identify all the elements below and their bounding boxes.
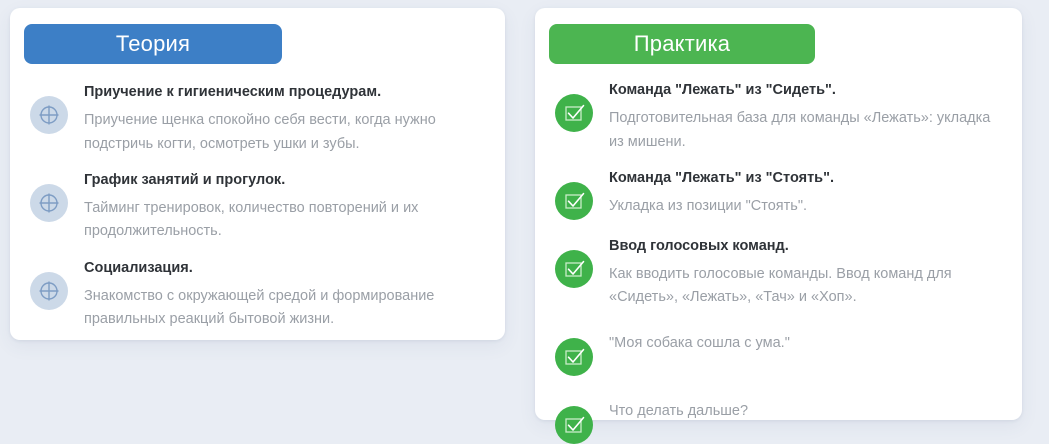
list-item[interactable]: Социализация. Знакомство с окружающей ср… [10,252,505,334]
list-item-text: Команда "Лежать" из "Стоять". Укладка из… [597,162,1006,221]
list-item-text: Социализация. Знакомство с окружающей ср… [72,252,489,334]
practice-card-header: Практика [549,24,815,64]
list-item-title: Социализация. [84,258,489,279]
list-item[interactable]: Команда "Лежать" из "Сидеть". Подготовит… [535,74,1022,156]
list-item-text: Что делать дальше? [597,386,1006,433]
list-item-description: Знакомство с окружающей средой и формиро… [84,285,489,332]
list-item-title: Приучение к гигиеническим процедурам. [84,82,489,103]
list-item-text: Приучение к гигиеническим процедурам. Пр… [72,76,489,158]
list-item-description: "Моя собака сошла с ума." [609,332,1006,355]
list-item-text: Ввод голосовых команд. Как вводить голос… [597,230,1006,312]
list-item-description: Как вводить голосовые команды. Ввод кома… [609,263,1006,310]
list-item-description: Подготовительная база для команды «Лежат… [609,107,1006,154]
practice-card: Практика Команда "Лежать" из "Сидеть". П… [535,8,1022,420]
list-item-title: График занятий и прогулок. [84,170,489,191]
page-root: Теория Приучение к гигиеническим процеду… [0,0,1049,444]
check-square-icon [551,246,597,292]
check-square-icon [551,334,597,380]
list-item[interactable]: Команда "Лежать" из "Стоять". Укладка из… [535,162,1022,224]
list-item[interactable]: Что делать дальше? [535,386,1022,444]
crosshair-icon [26,92,72,138]
crosshair-icon [26,180,72,226]
list-item-description: Приучение щенка спокойно себя вести, ког… [84,109,489,156]
practice-card-header-label: Практика [634,31,730,57]
list-item[interactable]: Ввод голосовых команд. Как вводить голос… [535,230,1022,312]
list-item[interactable]: Приучение к гигиеническим процедурам. Пр… [10,76,505,158]
list-item-text: Команда "Лежать" из "Сидеть". Подготовит… [597,74,1006,156]
crosshair-icon [26,268,72,314]
list-item[interactable]: "Моя собака сошла с ума." [535,318,1022,380]
theory-card-header-label: Теория [116,31,190,57]
list-item-description: Тайминг тренировок, количество повторени… [84,197,489,244]
check-square-icon [551,402,597,444]
list-item[interactable]: График занятий и прогулок. Тайминг трени… [10,164,505,246]
list-item-description: Что делать дальше? [609,400,1006,423]
list-item-title: Команда "Лежать" из "Сидеть". [609,80,1006,101]
list-item-title: Ввод голосовых команд. [609,236,1006,257]
list-item-title: Команда "Лежать" из "Стоять". [609,168,1006,189]
practice-item-list: Команда "Лежать" из "Сидеть". Подготовит… [535,74,1022,444]
theory-item-list: Приучение к гигиеническим процедурам. Пр… [10,76,505,340]
list-item-text: "Моя собака сошла с ума." [597,318,1006,365]
check-square-icon [551,178,597,224]
theory-card: Теория Приучение к гигиеническим процеду… [10,8,505,340]
check-square-icon [551,90,597,136]
list-item-description: Укладка из позиции "Стоять". [609,195,1006,218]
list-item-text: График занятий и прогулок. Тайминг трени… [72,164,489,246]
theory-card-header: Теория [24,24,282,64]
